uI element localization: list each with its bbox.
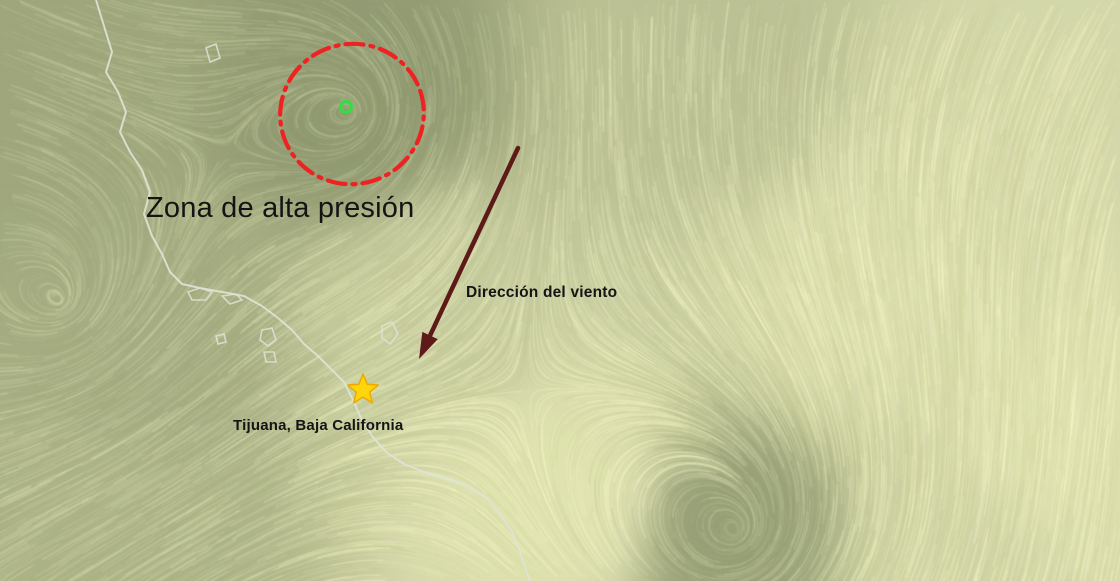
city-label: Tijuana, Baja California [233, 417, 403, 434]
wind-map[interactable]: Zona de alta presión Dirección del vient… [0, 0, 1120, 581]
wind-direction-label: Dirección del viento [466, 284, 617, 302]
high-pressure-label: Zona de alta presión [146, 192, 414, 225]
